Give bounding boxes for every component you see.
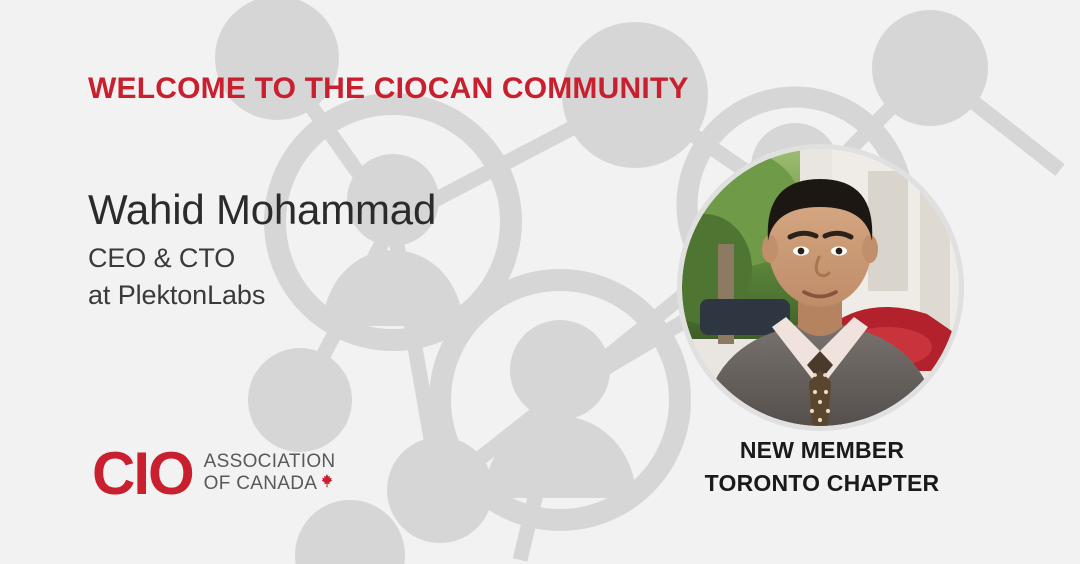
page-title: WELCOME TO THE CIOCAN COMMUNITY (88, 72, 689, 106)
badge-line-1: NEW MEMBER (672, 434, 972, 467)
network-person-node (295, 500, 405, 564)
member-role: CEO & CTO (88, 241, 648, 277)
badge-line-2: TORONTO CHAPTER (672, 467, 972, 500)
logo-wordmark: ASSOCIATION OF CANADA (204, 451, 336, 497)
cio-association-logo: CIO ASSOCIATION OF CANADA (92, 446, 335, 501)
member-name: Wahid Mohammad (88, 185, 648, 235)
maple-leaf-icon (319, 473, 335, 495)
logo-wordmark-line-2: OF CANADA (204, 473, 318, 495)
cio-logo-mark: CIO (92, 446, 193, 501)
logo-wordmark-line-2-row: OF CANADA (204, 473, 336, 495)
logo-wordmark-line-1: ASSOCIATION (204, 451, 336, 473)
announcement-card: WELCOME TO THE CIOCAN COMMUNITY Wahid Mo… (0, 0, 1080, 564)
network-person-node-ringed (440, 280, 680, 520)
status-badge: NEW MEMBER TORONTO CHAPTER (672, 434, 972, 499)
member-company: at PlektonLabs (88, 278, 648, 314)
member-photo (682, 149, 959, 426)
member-details: Wahid Mohammad CEO & CTO at PlektonLabs (88, 185, 648, 314)
avatar (682, 149, 959, 426)
